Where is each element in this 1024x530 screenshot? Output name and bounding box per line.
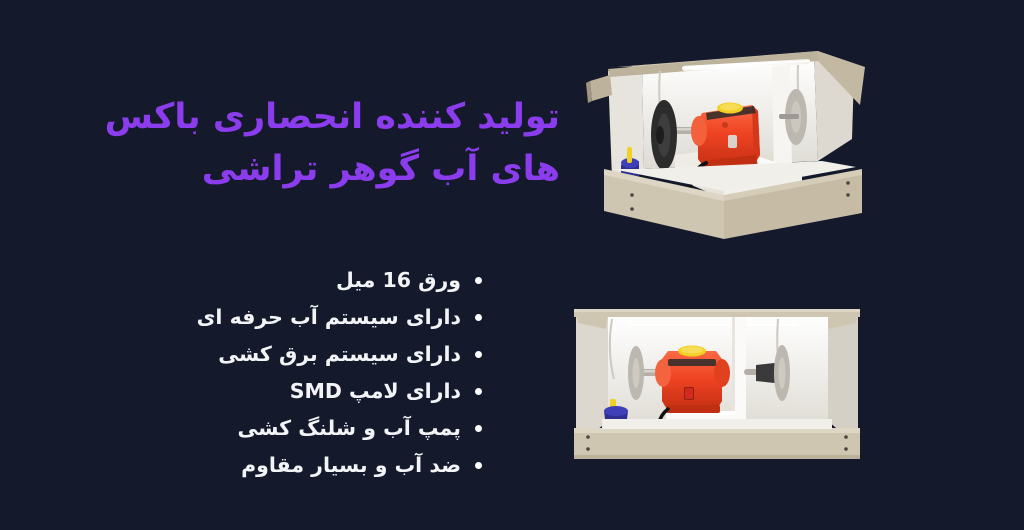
feature-label: ورق 16 میل bbox=[336, 268, 461, 292]
product-photo-angled bbox=[586, 43, 865, 256]
list-item: دارای سیستم برق کشی bbox=[182, 336, 482, 373]
promo-poster: تولید کننده انحصاری باکس های آب گوهر ترا… bbox=[0, 0, 1024, 530]
list-item: ورق 16 میل bbox=[182, 262, 482, 299]
bullet-dot-icon bbox=[475, 314, 482, 321]
product-photo-front bbox=[566, 301, 867, 466]
bullet-dot-icon bbox=[475, 425, 482, 432]
feature-label: دارای لامپ SMD bbox=[290, 379, 461, 403]
bullet-dot-icon bbox=[475, 388, 482, 395]
feature-label: دارای سیستم آب حرفه ای bbox=[197, 305, 461, 329]
list-item: پمپ آب و شلنگ کشی bbox=[182, 410, 482, 447]
list-item: دارای لامپ SMD bbox=[182, 373, 482, 410]
headline-line-1: تولید کننده انحصاری باکس bbox=[90, 92, 560, 144]
list-item: دارای سیستم آب حرفه ای bbox=[182, 299, 482, 336]
bullet-dot-icon bbox=[475, 277, 482, 284]
feature-list: ورق 16 میل دارای سیستم آب حرفه ای دارای … bbox=[182, 262, 482, 484]
headline-line-2: های آب گوهر تراشی bbox=[90, 144, 560, 196]
bullet-dot-icon bbox=[475, 351, 482, 358]
page-title: تولید کننده انحصاری باکس های آب گوهر ترا… bbox=[90, 92, 560, 196]
feature-label: ضد آب و بسیار مقاوم bbox=[241, 453, 461, 477]
feature-label: پمپ آب و شلنگ کشی bbox=[238, 416, 461, 440]
list-item: ضد آب و بسیار مقاوم bbox=[182, 447, 482, 484]
feature-label: دارای سیستم برق کشی bbox=[218, 342, 461, 366]
bullet-dot-icon bbox=[475, 462, 482, 469]
